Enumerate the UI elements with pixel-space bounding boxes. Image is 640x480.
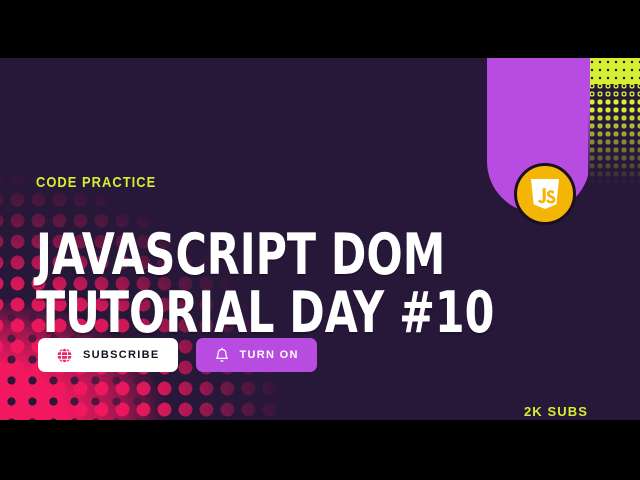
cta-button-row: SUBSCRIBE TURN ON bbox=[38, 338, 317, 372]
halftone-lime-fade-decoration bbox=[588, 58, 640, 184]
status-badge: 2K SUBS bbox=[524, 404, 588, 419]
subscribe-button[interactable]: SUBSCRIBE bbox=[38, 338, 178, 372]
javascript-logo-icon bbox=[514, 163, 576, 225]
page-title: JAVASCRIPT DOM TUTORIAL DAY #10 bbox=[36, 226, 494, 342]
letterbox-bottom bbox=[0, 420, 640, 480]
turn-on-button-label: TURN ON bbox=[240, 349, 299, 361]
subscribe-button-label: SUBSCRIBE bbox=[83, 349, 160, 361]
thumbnail-artboard: CODE PRACTICE JAVASCRIPT DOM TUTORIAL DA… bbox=[0, 58, 640, 420]
turn-on-notifications-button[interactable]: TURN ON bbox=[196, 338, 317, 372]
thumbnail-canvas: CODE PRACTICE JAVASCRIPT DOM TUTORIAL DA… bbox=[0, 0, 640, 480]
bell-icon bbox=[214, 347, 230, 364]
eyebrow-label: CODE PRACTICE bbox=[36, 174, 156, 191]
globe-icon bbox=[56, 347, 73, 364]
letterbox-top bbox=[0, 0, 640, 58]
